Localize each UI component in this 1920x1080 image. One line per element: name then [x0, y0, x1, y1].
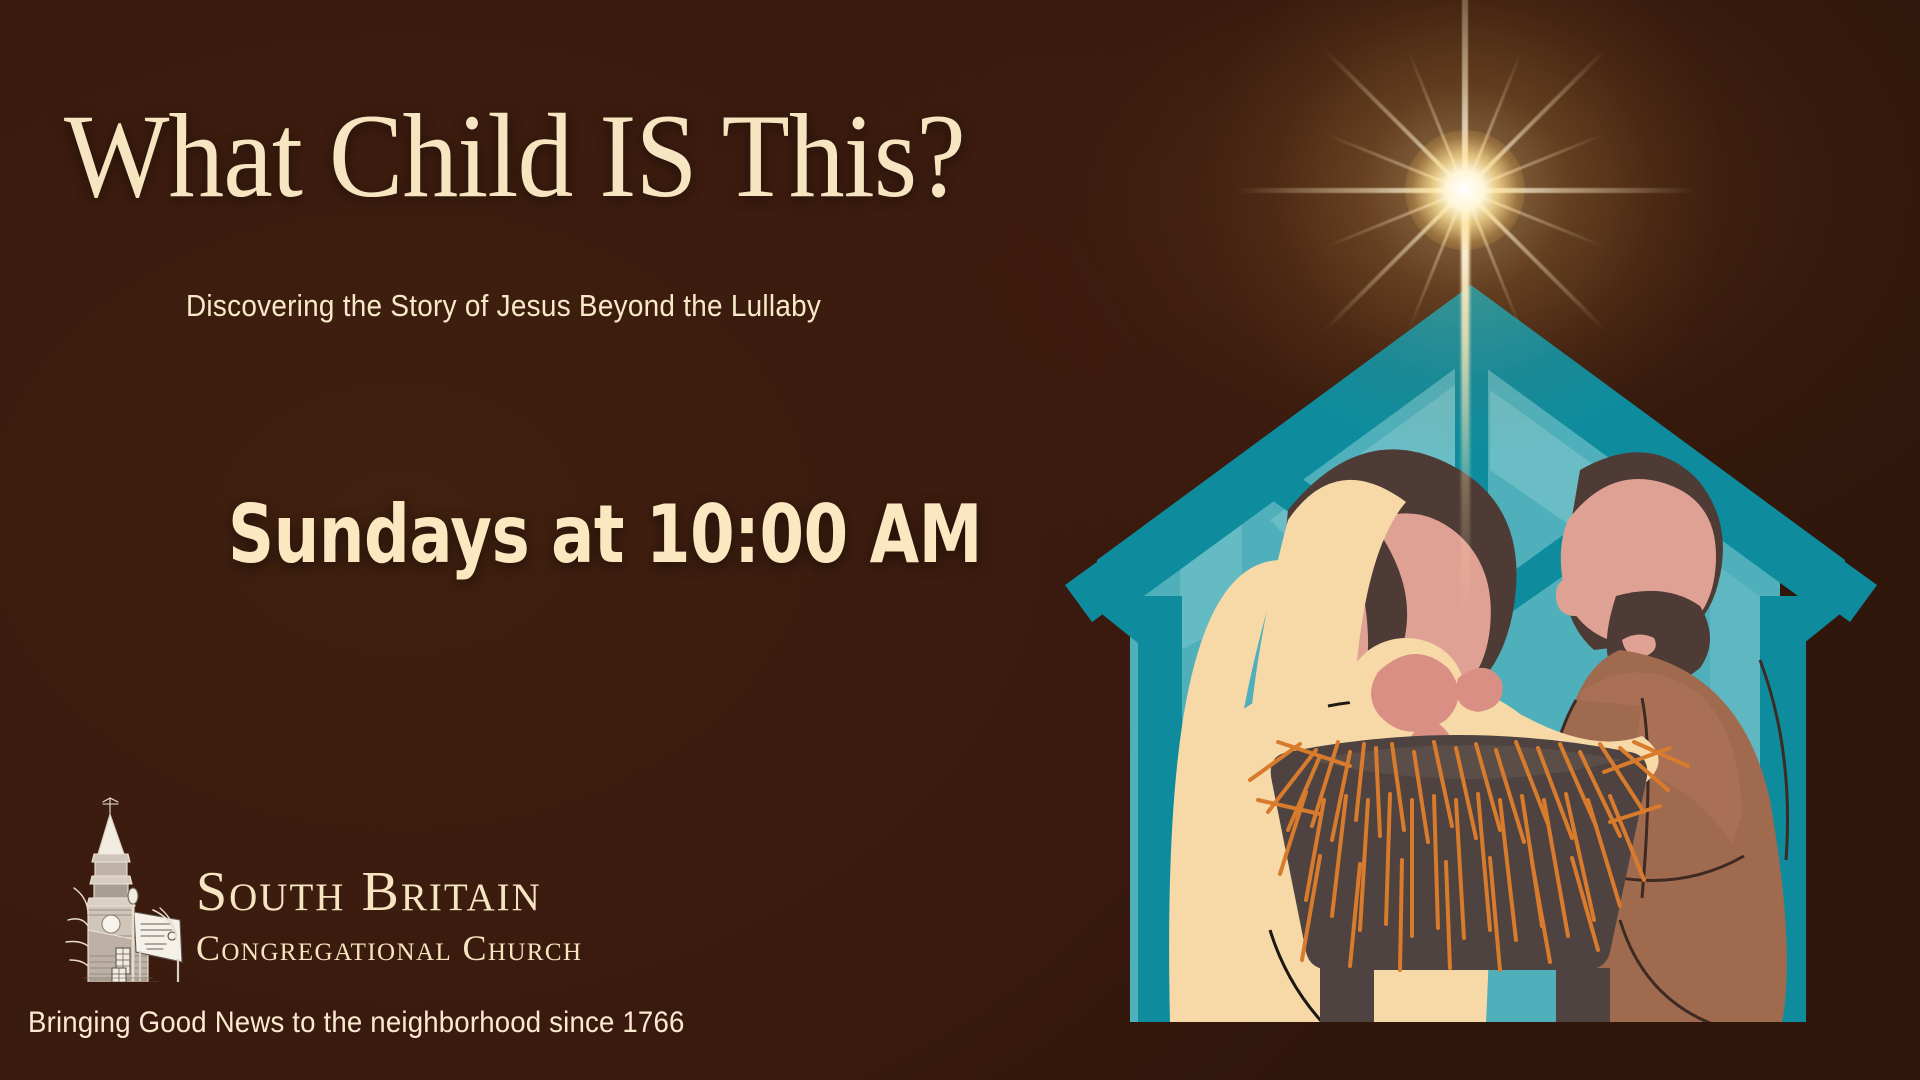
church-name: South Britain — [196, 864, 582, 920]
church-tagline: Bringing Good News to the neighborhood s… — [28, 1008, 685, 1038]
church-logo: South Britain Congregational Church Brin… — [28, 780, 648, 1060]
page-subtitle: Discovering the Story of Jesus Beyond th… — [186, 290, 821, 321]
church-name-secondary: Congregational Church — [196, 930, 582, 966]
service-time: Sundays at 10:00 AM — [228, 495, 982, 575]
church-name-block: South Britain Congregational Church — [196, 864, 582, 966]
nativity-scene — [1020, 0, 1920, 1080]
church-steeple-icon — [48, 792, 203, 982]
page-title: What Child IS This? — [64, 96, 965, 216]
poster-canvas: What Child IS This? Discovering the Stor… — [0, 0, 1920, 1080]
